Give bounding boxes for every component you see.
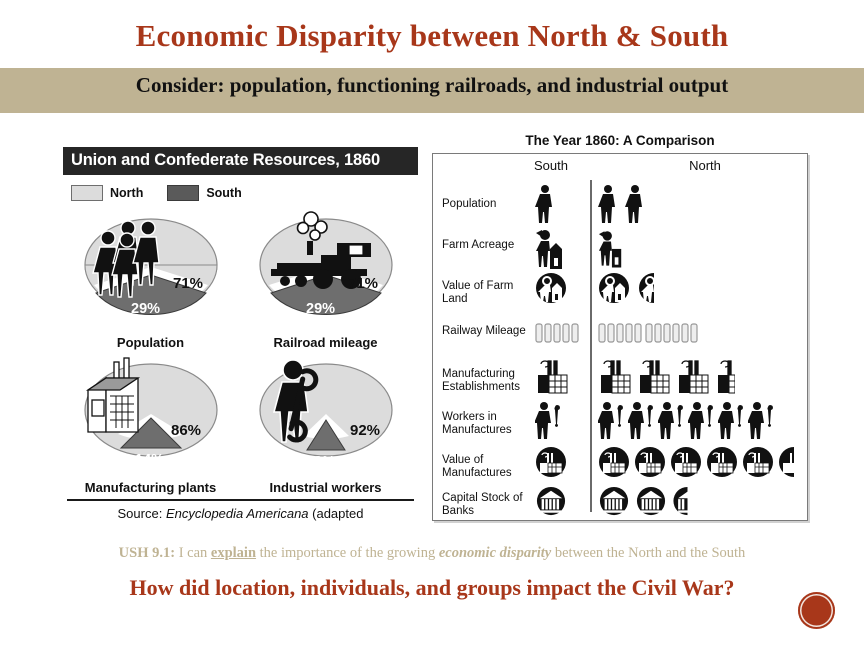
pie-panel-manufacturing-plants: 86% 14% Manufacturing plants [63, 352, 238, 497]
pie-panel-grid: 71% 29% Population [63, 207, 418, 497]
right-chart-title: The Year 1860: A Comparison [432, 133, 808, 148]
row-north-capital-stock-banks [598, 486, 803, 516]
objective-italic: economic disparity [439, 545, 551, 561]
pie-caption-population: Population [63, 335, 238, 350]
worker-wrench-icon [748, 401, 774, 439]
objective-part2: the importance of the growing [256, 545, 439, 561]
pie-value-north-manufacturing: 86% [171, 422, 201, 439]
row-south-railway-mileage [535, 322, 585, 344]
row-label-workers-manufactures: Workers in Manufactures [442, 411, 530, 436]
corner-dot-decoration [798, 592, 835, 629]
worker-wrench-icon [658, 401, 684, 439]
source-suffix: (adapted [309, 506, 364, 521]
population-pie-svg [66, 211, 236, 336]
pie-value-north-railroad: 71% [348, 275, 378, 292]
objective-part1: I can [175, 545, 211, 561]
left-chart-legend: North South [71, 185, 418, 201]
pie-value-south-population: 29% [131, 301, 160, 317]
plant-icon [535, 356, 569, 394]
row-north-value-manufactures [598, 446, 803, 478]
essential-question: How did location, individuals, and group… [0, 575, 864, 601]
row-south-workers-manufactures [535, 401, 561, 439]
bank-coin-icon-half [672, 486, 688, 516]
source-divider [67, 499, 414, 501]
source-title: Encyclopedia Americana [166, 506, 309, 521]
row-label-farm-acreage: Farm Acreage [442, 239, 530, 252]
left-chart-header: Union and Confederate Resources, 1860 [63, 147, 418, 175]
standard-code: USH 9.1: [119, 545, 175, 561]
pie-panel-industrial-workers: 92% 8% Industrial workers [238, 352, 413, 497]
legend-label-south: South [206, 186, 241, 200]
farmland-coin-icon [598, 272, 630, 304]
column-header-north: North [665, 158, 745, 173]
pie-value-north-population: 71% [173, 275, 203, 292]
subtitle-text: Consider: population, functioning railro… [0, 70, 864, 100]
union-confederate-resources-chart: Union and Confederate Resources, 1860 No… [63, 147, 418, 532]
rail-tie-icon [535, 322, 585, 344]
objective-line: USH 9.1: I can explain the importance of… [0, 545, 864, 562]
pie-value-south-workers: 8% [314, 454, 335, 470]
row-south-manufacturing-establishments [535, 356, 569, 394]
worker-wrench-icon [535, 401, 561, 439]
row-north-population [598, 184, 803, 224]
factory-coin-icon [742, 446, 774, 478]
row-label-manufacturing-establishments: Manufacturing Establishments [442, 368, 530, 393]
row-south-capital-stock-banks [535, 486, 567, 516]
objective-emphasis: explain [211, 545, 256, 561]
bank-coin-icon [635, 486, 667, 516]
pictograph-box: South North Population Farm Acreage [432, 153, 808, 521]
column-header-south: South [511, 158, 591, 173]
farmland-coin-icon-half [638, 272, 654, 304]
legend-label-north: North [110, 186, 143, 200]
worker-wrench-icon [718, 401, 744, 439]
worker-wrench-icon [688, 401, 714, 439]
pie-caption-workers: Industrial workers [238, 480, 413, 495]
person-icon [535, 184, 555, 224]
source-prefix: Source: [118, 506, 166, 521]
pie-caption-manufacturing: Manufacturing plants [63, 480, 238, 495]
factory-coin-icon [535, 446, 567, 478]
column-divider [590, 180, 592, 512]
farmer-barn-icon [535, 227, 563, 269]
row-north-workers-manufactures [598, 401, 803, 439]
person-icon [625, 184, 645, 224]
row-label-capital-stock-banks: Capital Stock of Banks [442, 492, 530, 517]
legend-item-north: North [71, 185, 143, 201]
objective-part3: between the North and the South [551, 545, 745, 561]
pie-value-north-workers: 92% [350, 422, 380, 439]
row-north-value-farm-land [598, 272, 803, 304]
factory-coin-icon [670, 446, 702, 478]
bank-coin-icon [535, 486, 567, 516]
farmland-coin-icon [535, 272, 567, 304]
bank-coin-icon [598, 486, 630, 516]
row-label-population: Population [442, 198, 530, 211]
farmer-barn-icon [598, 227, 624, 269]
person-icon [598, 184, 618, 224]
pie-panel-railroad: 71% 29% Railroad mileage [238, 207, 413, 352]
row-north-farm-acreage [598, 227, 803, 269]
plant-icon [676, 356, 710, 394]
factory-coin-icon [706, 446, 738, 478]
page-title: Economic Disparity between North & South [0, 18, 864, 54]
row-label-railway-mileage: Railway Mileage [442, 325, 530, 338]
railroad-pie-svg [241, 211, 411, 336]
row-south-value-farm-land [535, 272, 567, 304]
worker-wrench-icon [598, 401, 624, 439]
pie-value-south-railroad: 29% [306, 301, 335, 317]
legend-swatch-north-icon [71, 185, 103, 201]
factory-coin-icon [634, 446, 666, 478]
factory-coin-icon-half [778, 446, 794, 478]
year-1860-comparison-chart: The Year 1860: A Comparison South North … [432, 133, 808, 525]
legend-item-south: South [167, 185, 241, 201]
source-line: Source: Encyclopedia Americana (adapted [63, 506, 418, 521]
pie-caption-railroad: Railroad mileage [238, 335, 413, 350]
pie-panel-population: 71% 29% Population [63, 207, 238, 352]
row-label-value-farm-land: Value of Farm Land [442, 280, 530, 305]
legend-swatch-south-icon [167, 185, 199, 201]
row-south-population [535, 184, 555, 224]
worker-wrench-icon [628, 401, 654, 439]
pie-value-south-manufacturing: 14% [135, 452, 164, 468]
rail-tie-icon [598, 322, 708, 344]
row-north-railway-mileage [598, 322, 803, 344]
factory-coin-icon [598, 446, 630, 478]
row-label-value-manufactures: Value of Manufactures [442, 454, 530, 479]
row-south-value-manufactures [535, 446, 567, 478]
plant-icon [598, 356, 632, 394]
row-north-manufacturing-establishments [598, 356, 803, 394]
row-south-farm-acreage [535, 227, 563, 269]
plant-icon-partial [715, 356, 735, 394]
plant-icon [637, 356, 671, 394]
